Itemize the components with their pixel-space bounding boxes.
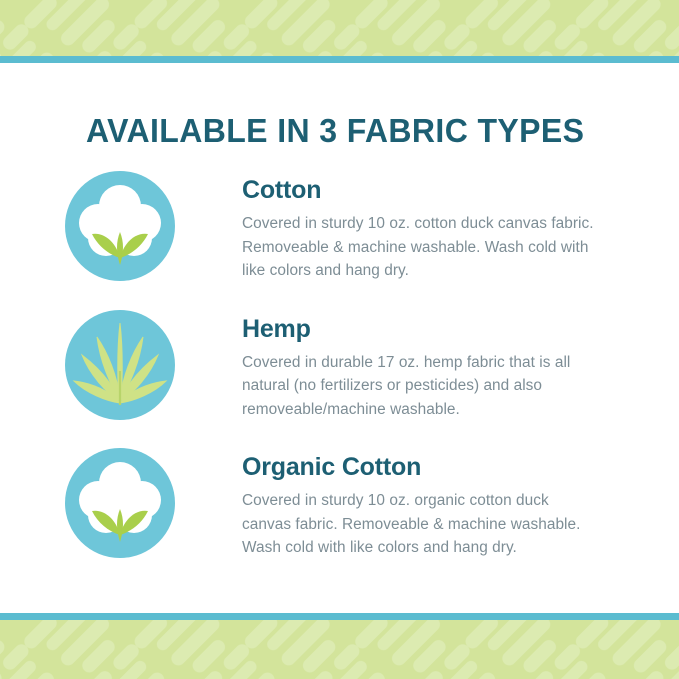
feature-text-cotton: Cotton Covered in sturdy 10 oz. cotton d… xyxy=(176,170,679,283)
feature-title: Hemp xyxy=(242,315,619,343)
bottom-decorative-band xyxy=(0,620,679,679)
feature-text-hemp: Hemp Covered in durable 17 oz. hemp fabr… xyxy=(176,309,679,422)
fabric-types-infographic: AVAILABLE IN 3 FABRIC TYPES xyxy=(0,0,679,679)
feature-description: Covered in durable 17 oz. hemp fabric th… xyxy=(242,351,602,422)
feature-item-organic-cotton: Organic Cotton Covered in sturdy 10 oz. … xyxy=(0,447,679,560)
feature-text-organic-cotton: Organic Cotton Covered in sturdy 10 oz. … xyxy=(176,447,679,560)
bottom-teal-stripe xyxy=(0,613,679,620)
page-title: AVAILABLE IN 3 FABRIC TYPES xyxy=(86,113,584,149)
feature-title: Cotton xyxy=(242,176,619,204)
feature-item-hemp: Hemp Covered in durable 17 oz. hemp fabr… xyxy=(0,309,679,422)
cotton-boll-icon xyxy=(64,170,176,282)
top-teal-stripe xyxy=(0,56,679,63)
feature-item-cotton: Cotton Covered in sturdy 10 oz. cotton d… xyxy=(0,170,679,283)
organic-cotton-boll-icon xyxy=(64,447,176,559)
hemp-leaf-icon xyxy=(64,309,176,421)
diagonal-dash-pattern-icon xyxy=(0,0,679,56)
feature-title: Organic Cotton xyxy=(242,453,619,481)
feature-list: Cotton Covered in sturdy 10 oz. cotton d… xyxy=(0,170,679,560)
feature-description: Covered in sturdy 10 oz. cotton duck can… xyxy=(242,212,602,283)
top-decorative-band xyxy=(0,0,679,56)
diagonal-dash-pattern-icon xyxy=(0,620,679,679)
feature-description: Covered in sturdy 10 oz. organic cotton … xyxy=(242,489,602,560)
